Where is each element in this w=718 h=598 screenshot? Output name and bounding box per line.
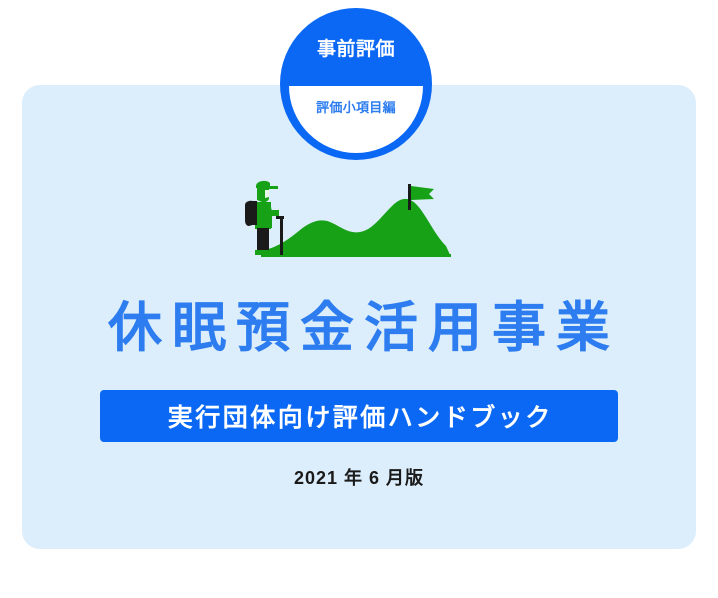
cover-page: 事前評価 評価小項目編 xyxy=(0,0,718,598)
badge-top-label: 事前評価 xyxy=(280,8,432,86)
subtitle-banner-text: 実行団体向け評価ハンドブック xyxy=(165,398,553,434)
edition-date: 2021 年 6 月版 xyxy=(0,464,718,490)
green-mountain xyxy=(261,199,451,257)
hiker-and-mountain-illustration xyxy=(236,178,466,262)
badge-sub-label: 評価小項目編 xyxy=(280,86,432,126)
hiker-figure xyxy=(245,181,284,255)
cap-shape xyxy=(256,181,278,189)
evaluation-stage-badge: 事前評価 評価小項目編 xyxy=(280,8,432,160)
page-title: 休眠預金活用事業 xyxy=(0,298,718,358)
subtitle-banner: 実行団体向け評価ハンドブック xyxy=(100,390,618,442)
backpack-shape xyxy=(245,201,257,226)
